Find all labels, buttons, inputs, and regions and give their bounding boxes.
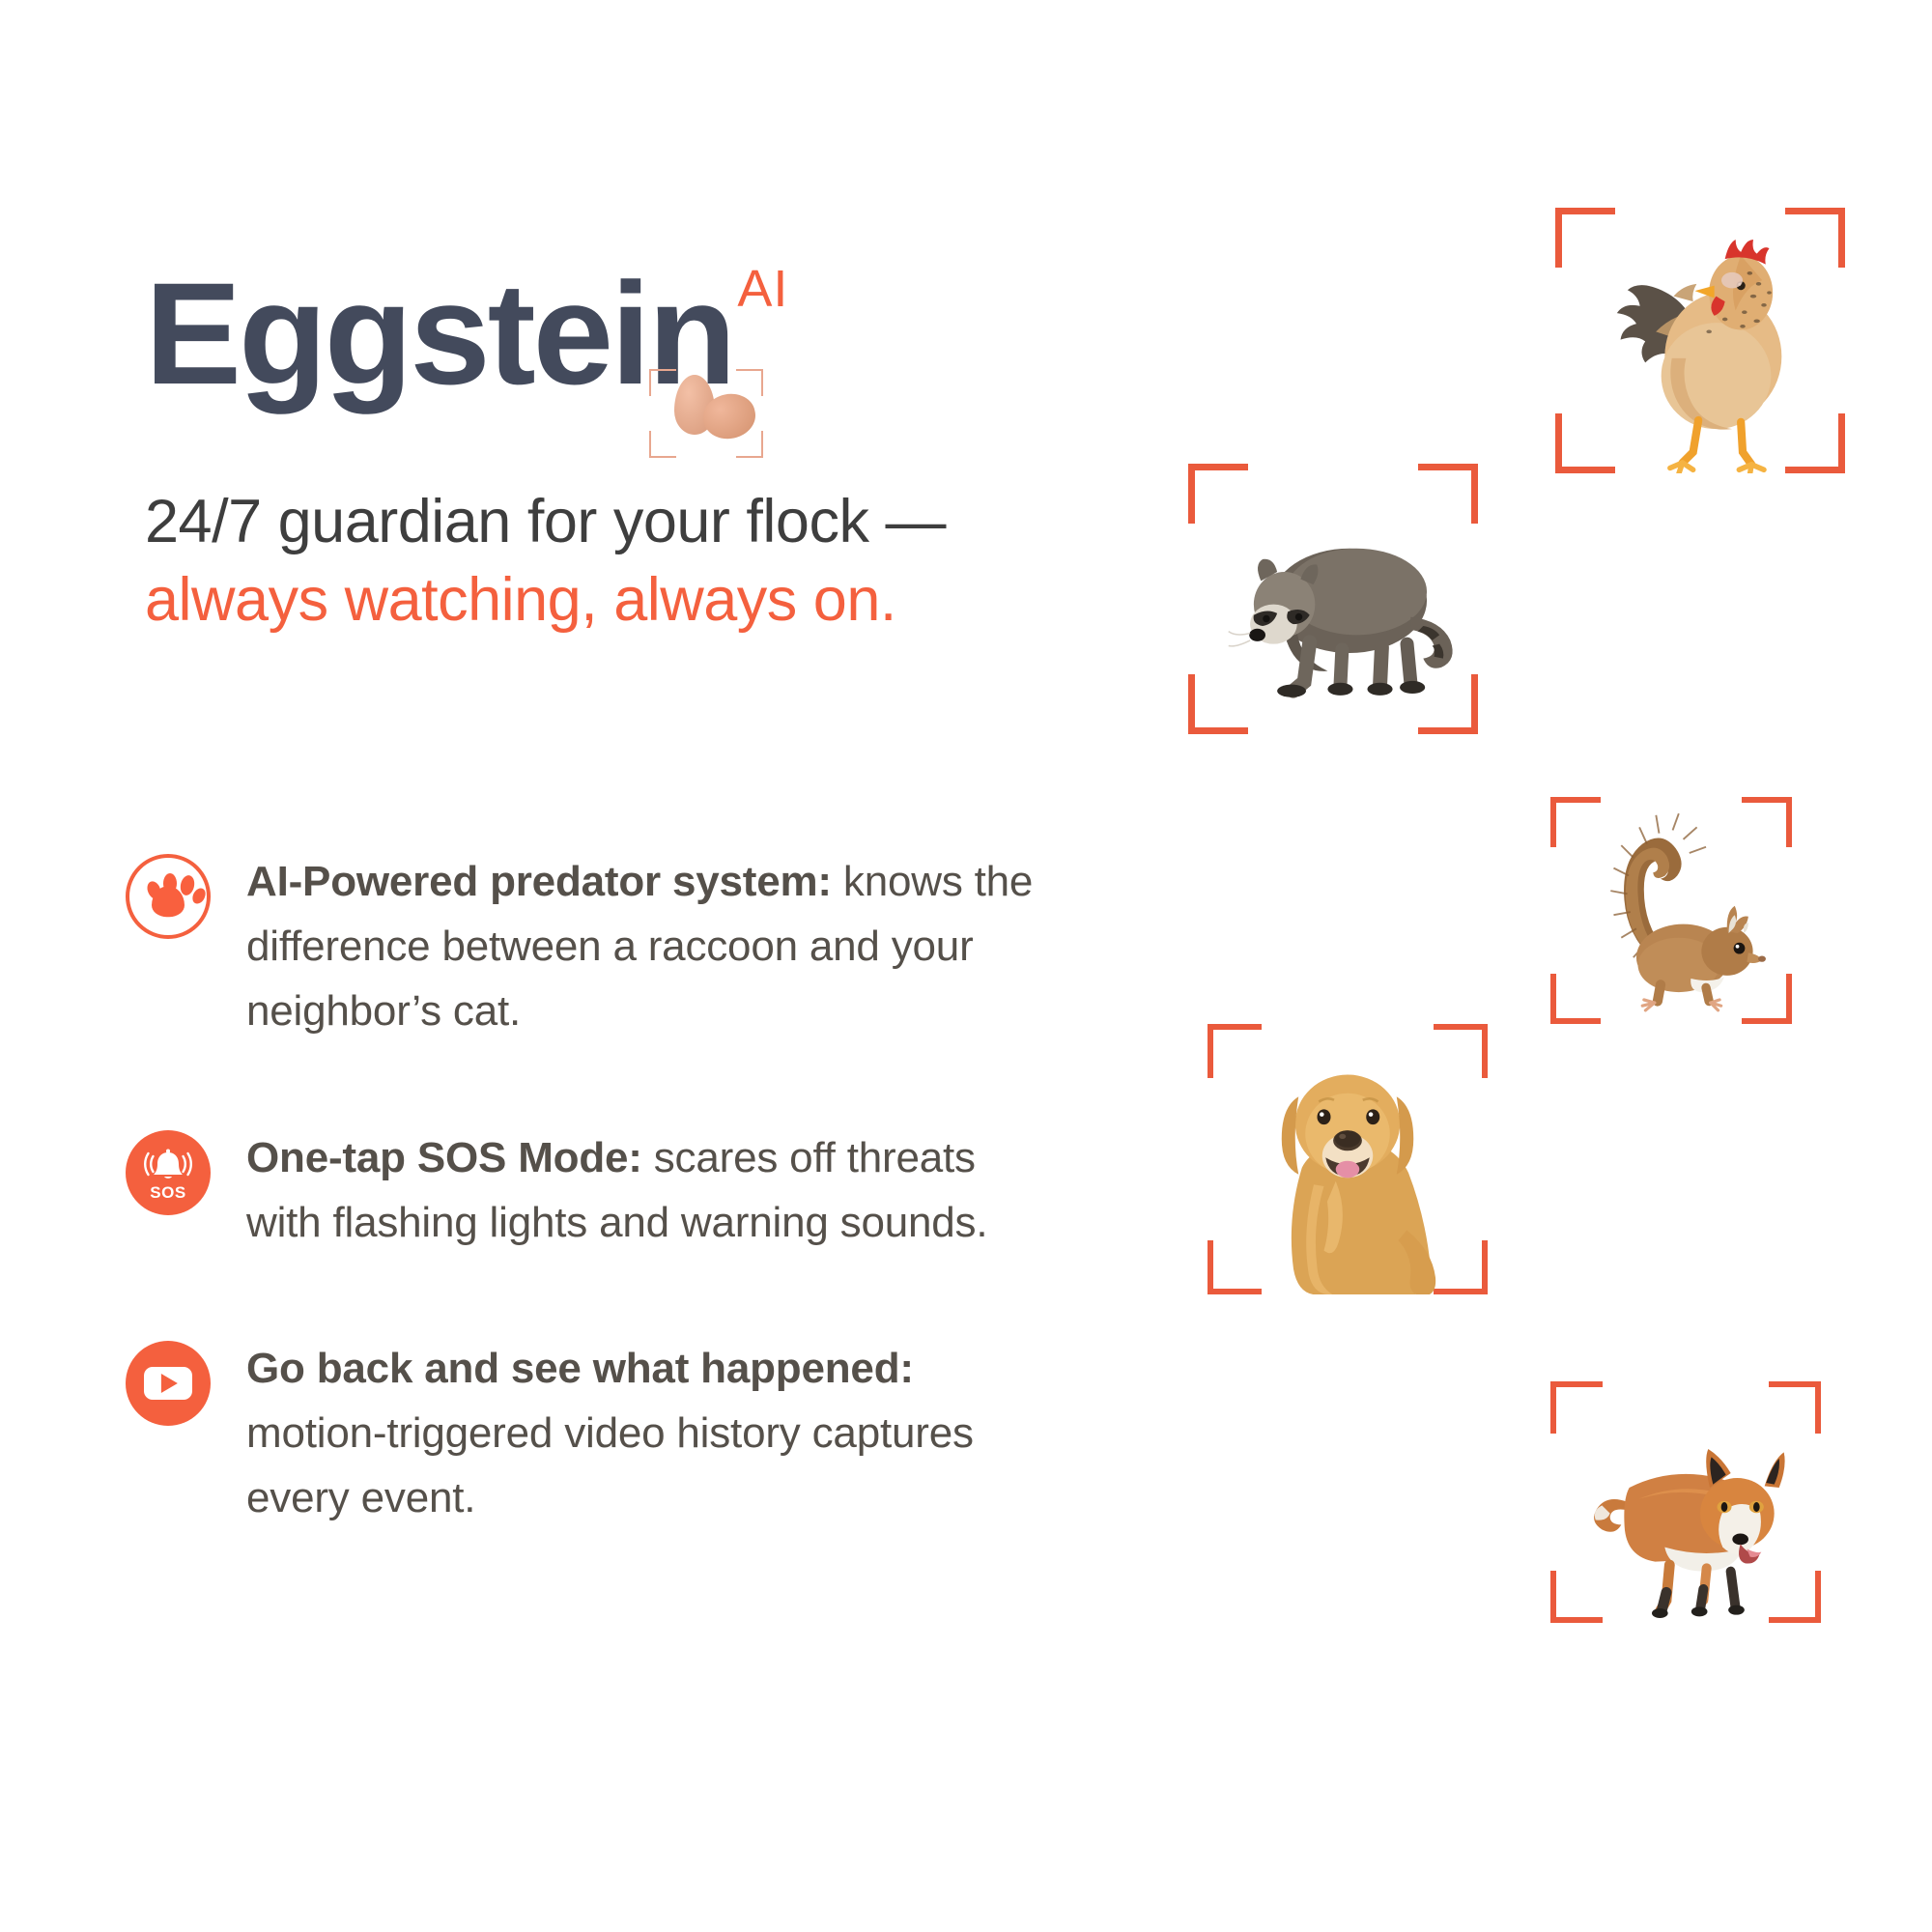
squirrel-image bbox=[1550, 797, 1792, 1024]
play-triangle bbox=[161, 1374, 178, 1393]
brand-name: Eggstein bbox=[145, 261, 733, 406]
raccoon-image bbox=[1188, 464, 1478, 734]
feature-item-video-history: Go back and see what happened: motion-tr… bbox=[126, 1337, 1053, 1531]
feature-list: AI-Powered predator system: knows the di… bbox=[126, 850, 1053, 1613]
feature-body: motion-triggered video history captures … bbox=[246, 1409, 974, 1521]
frame-corner-top-right bbox=[736, 369, 763, 396]
detections-column bbox=[1111, 0, 1932, 1932]
feature-title: AI-Powered predator system: bbox=[246, 858, 832, 905]
feature-item-sos-mode: SOS One-tap SOS Mode: scares off threats… bbox=[126, 1126, 1053, 1256]
frame-corner-bottom-right bbox=[736, 431, 763, 458]
eggs-detection-frame-icon bbox=[649, 369, 763, 458]
feature-text: AI-Powered predator system: knows the di… bbox=[246, 850, 1053, 1044]
fox-image bbox=[1550, 1381, 1821, 1623]
chicken-detection bbox=[1555, 208, 1845, 473]
video-play-icon bbox=[126, 1341, 211, 1426]
brand-row: Eggstein AI bbox=[145, 261, 733, 406]
feature-text: Go back and see what happened: motion-tr… bbox=[246, 1337, 1053, 1531]
chicken-image bbox=[1555, 208, 1845, 473]
sos-bell-icon: SOS bbox=[126, 1130, 211, 1215]
fox-detection bbox=[1550, 1381, 1821, 1623]
brand-lockup: Eggstein AI bbox=[145, 261, 1014, 406]
feature-text: One-tap SOS Mode: scares off threats wit… bbox=[246, 1126, 1053, 1256]
content-column: Eggstein AI 24/7 guardian for your flock… bbox=[0, 0, 1111, 1932]
squirrel-detection bbox=[1550, 797, 1792, 1024]
poster-canvas: Eggstein AI 24/7 guardian for your flock… bbox=[0, 0, 1932, 1932]
paw-icon bbox=[126, 854, 211, 939]
dog-image bbox=[1207, 1024, 1488, 1294]
feature-title: Go back and see what happened: bbox=[246, 1345, 914, 1392]
feature-title: One-tap SOS Mode: bbox=[246, 1134, 642, 1181]
feature-item-predator-system: AI-Powered predator system: knows the di… bbox=[126, 850, 1053, 1044]
golden-retriever-detection bbox=[1207, 1024, 1488, 1294]
frame-corner-top-left bbox=[649, 369, 676, 396]
raccoon-detection bbox=[1188, 464, 1478, 734]
brand-ai-superscript: AI bbox=[737, 259, 788, 319]
tagline-line-1: 24/7 guardian for your flock — bbox=[145, 483, 1014, 561]
tagline-line-2: always watching, always on. bbox=[145, 561, 1014, 639]
frame-corner-bottom-left bbox=[649, 431, 676, 458]
bell-glyph bbox=[141, 1149, 195, 1187]
tagline: 24/7 guardian for your flock — always wa… bbox=[145, 483, 1014, 639]
paw-pad bbox=[152, 886, 185, 917]
sos-icon-label: SOS bbox=[126, 1183, 211, 1203]
